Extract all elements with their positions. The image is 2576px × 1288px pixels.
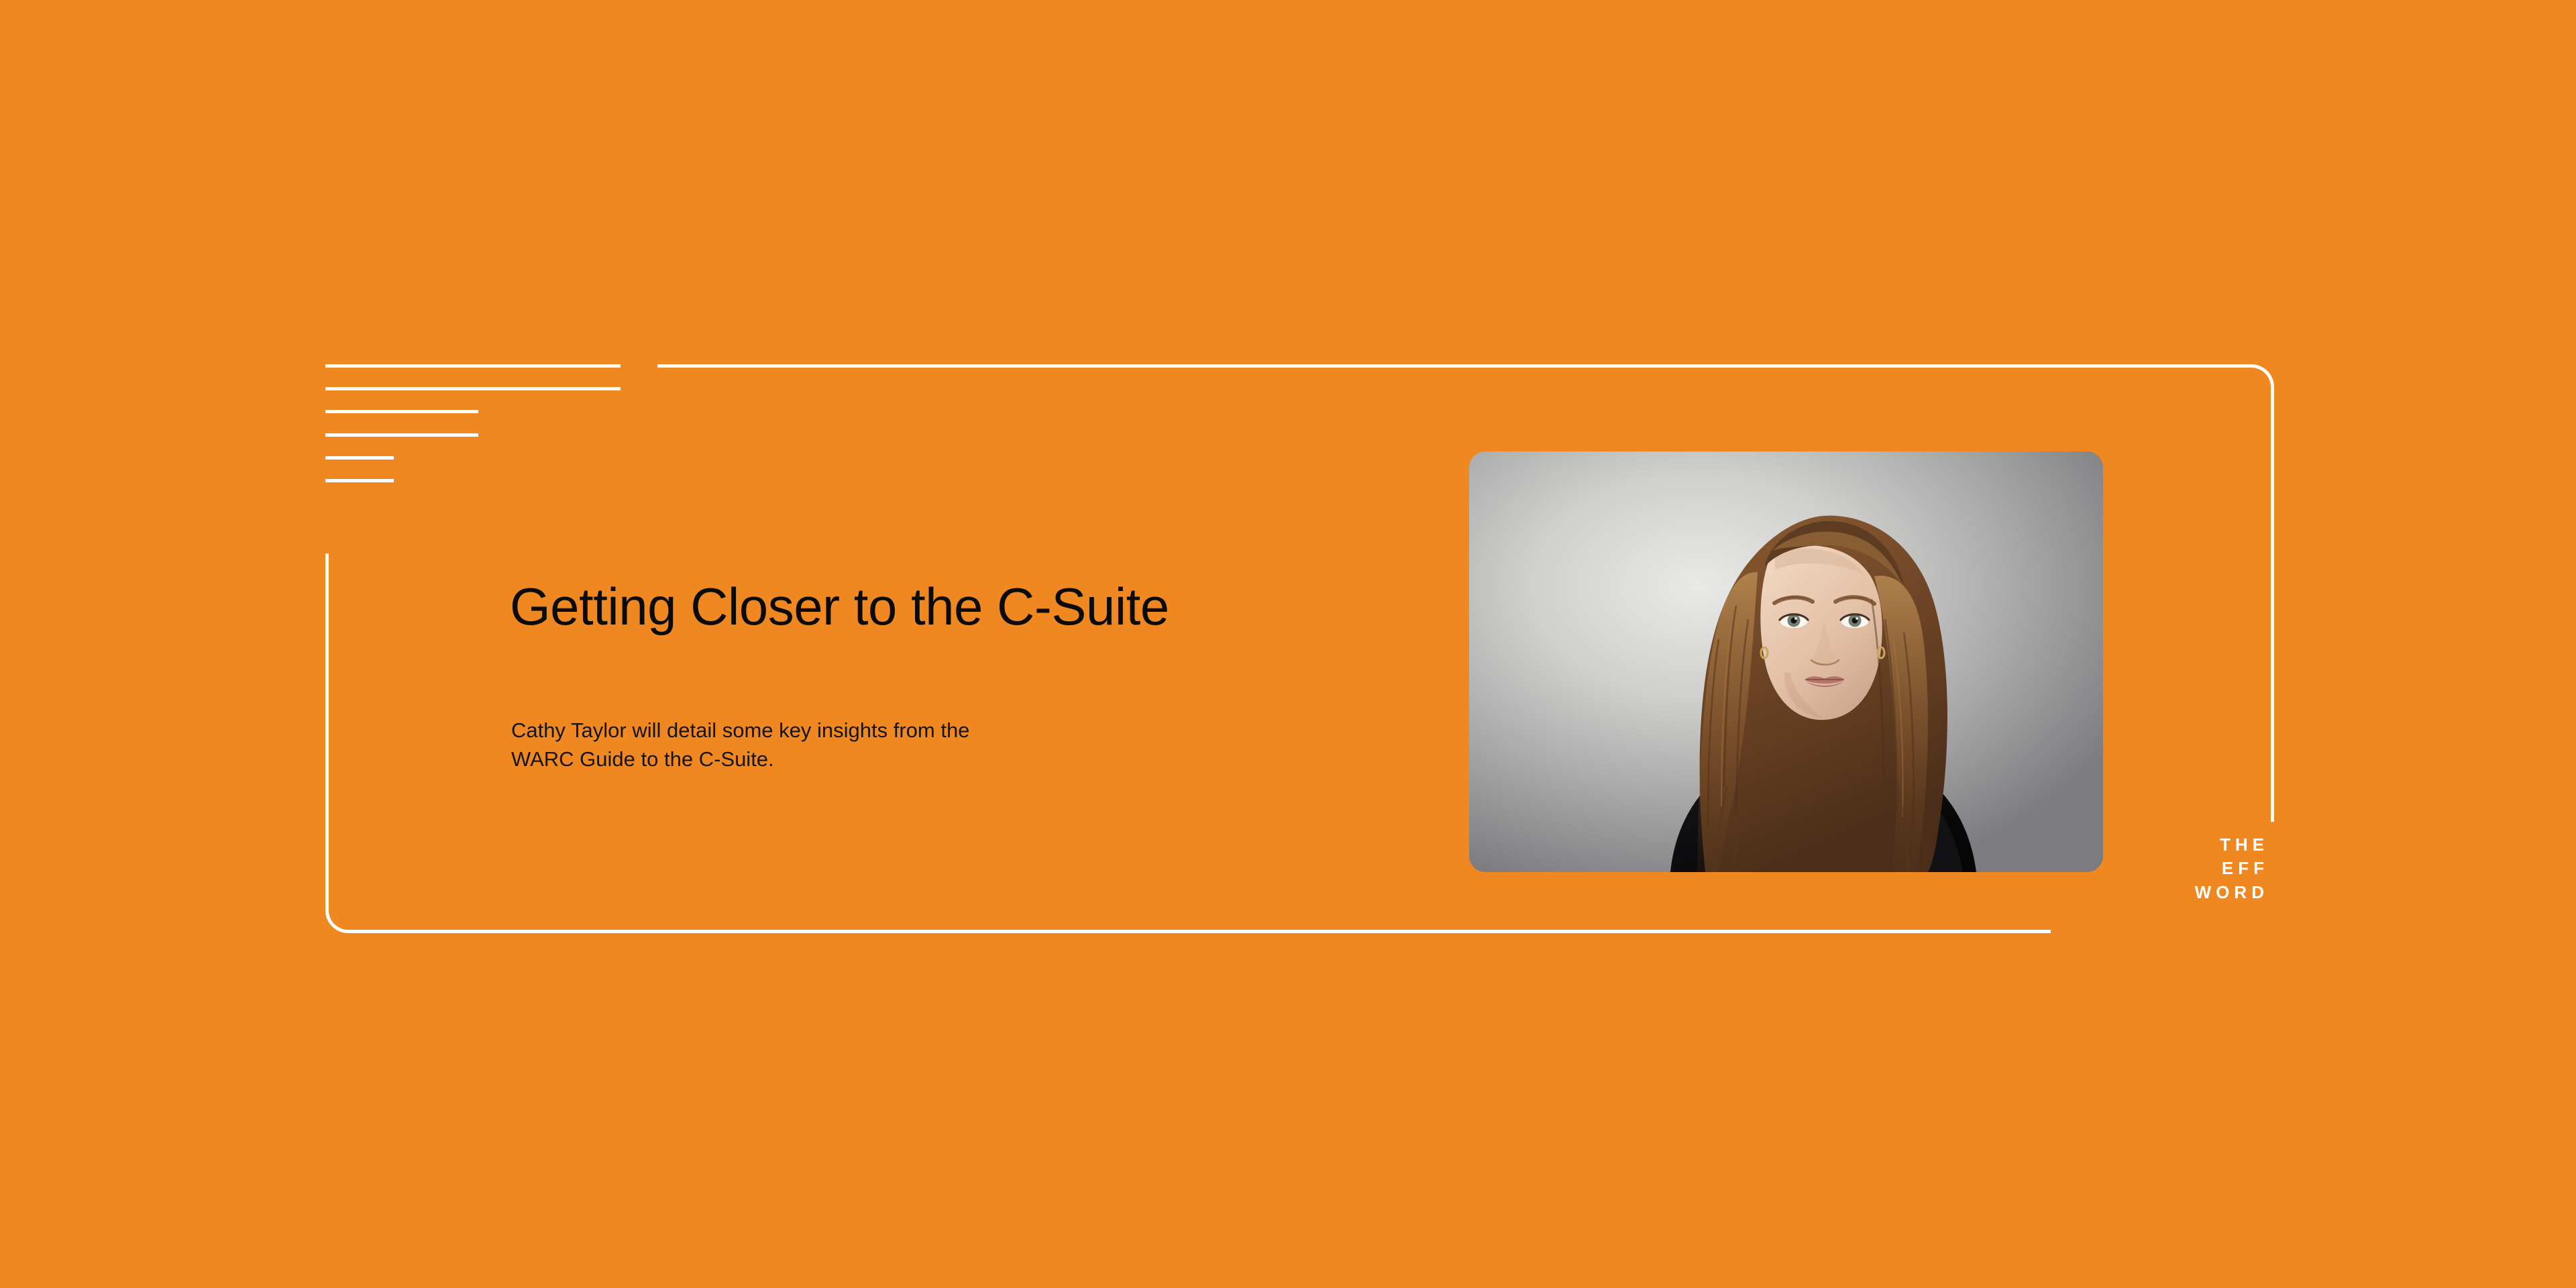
decor-rule-3 (325, 410, 478, 413)
brand-logo-line-1: THE (2147, 833, 2270, 857)
brand-logo-line-3: WORD (2147, 881, 2270, 904)
decor-rule-6 (325, 479, 394, 482)
page-subtitle-line-1: Cathy Taylor will detail some key insigh… (511, 716, 969, 745)
decor-rule-2 (325, 387, 621, 390)
speaker-portrait (1469, 451, 2103, 872)
banner-canvas: Getting Closer to the C-Suite Cathy Tayl… (0, 0, 2576, 1288)
page-subtitle-line-2: WARC Guide to the C-Suite. (511, 745, 969, 774)
page-title: Getting Closer to the C-Suite (510, 578, 1169, 636)
decor-rule-4 (325, 433, 478, 437)
decor-rule-5 (325, 456, 394, 460)
decor-rule-1 (325, 364, 621, 368)
brand-logo-line-2: EFF (2147, 857, 2270, 880)
brand-logo: THE EFF WORD (2147, 833, 2270, 904)
page-subtitle: Cathy Taylor will detail some key insigh… (511, 716, 969, 774)
